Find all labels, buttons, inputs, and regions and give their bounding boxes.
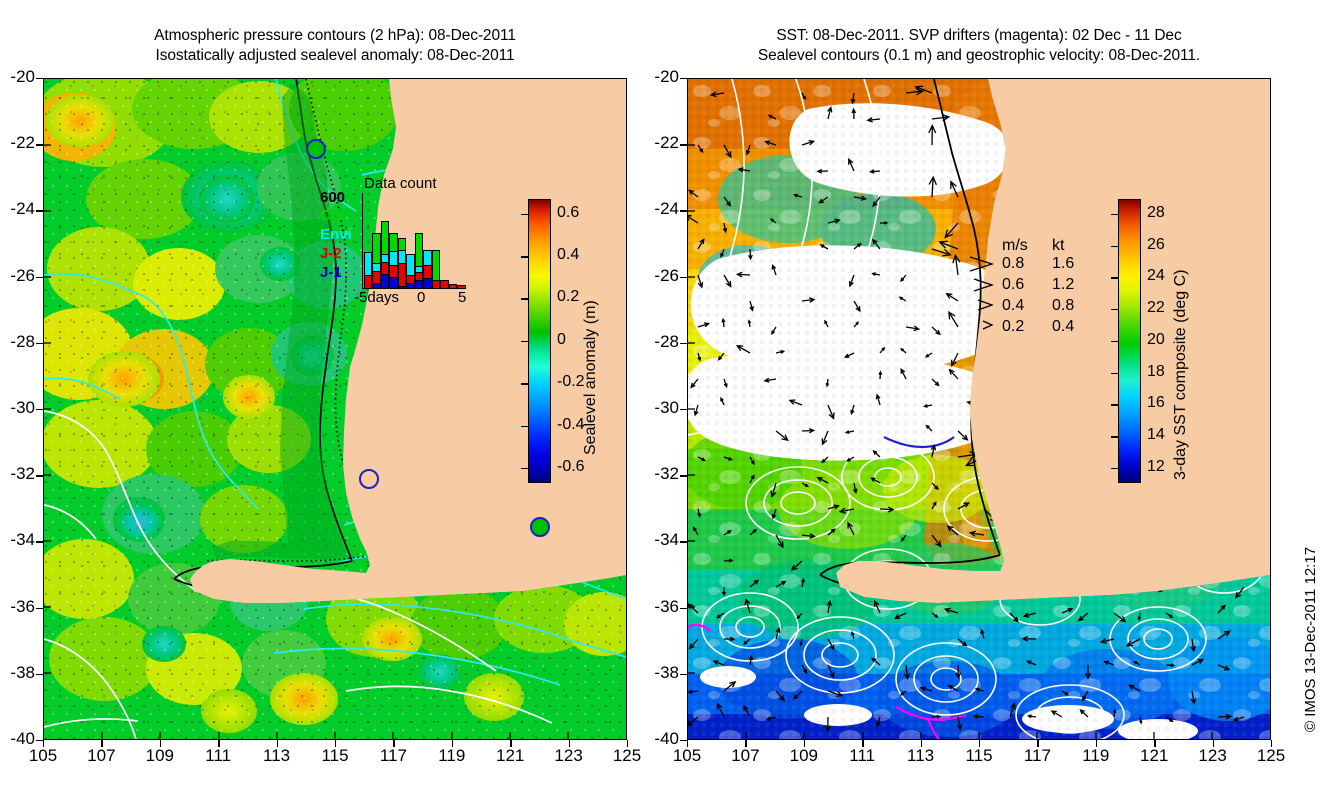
y-tick-mark (680, 740, 687, 741)
data-count-segment-cr2 (415, 233, 423, 266)
x-tick-label: 117 (1007, 746, 1067, 766)
mission-legend-cr2: Cr2 (320, 207, 345, 224)
data-count-segment-j-2 (381, 262, 389, 275)
data-count-xlabel-zero: 0 (417, 289, 425, 306)
x-tick-mark (1037, 740, 1038, 747)
colorbar-tick-label: 0 (557, 331, 566, 349)
colorbar-tick-label: -0.6 (557, 458, 585, 476)
data-count-segment-cr2 (389, 233, 397, 253)
colorbar-tick-mark (521, 256, 528, 257)
y-tick-label: -32 (0, 464, 35, 484)
data-count-segment-j-1 (415, 280, 423, 289)
left-panel-title: Atmospheric pressure contours (2 hPa): 0… (43, 26, 627, 66)
y-tick-mark (36, 144, 43, 145)
colorbar-tick-mark (1111, 404, 1118, 405)
y-tick-mark (680, 78, 687, 79)
x-tick-label: 119 (422, 746, 482, 766)
y-tick-mark (36, 78, 43, 79)
right-panel-title: SST: 08-Dec-2011. SVP drifters (magenta)… (687, 26, 1271, 66)
sealevel-colorbar-title: Sealevel anomaly (m) (582, 300, 600, 455)
y-tick-label: -30 (619, 398, 679, 418)
y-tick-mark (680, 475, 687, 476)
x-tick-mark (569, 740, 570, 747)
y-tick-mark (36, 210, 43, 211)
data-count-xlabel-end: 5 (458, 289, 466, 306)
data-count-segment-envi (406, 254, 414, 276)
x-tick-mark (452, 740, 453, 747)
x-tick-mark (1213, 740, 1214, 747)
data-count-segment-j-2 (440, 280, 448, 289)
y-tick-mark (680, 277, 687, 278)
x-tick-mark (804, 740, 805, 747)
data-count-segment-j-1 (398, 286, 406, 289)
x-tick-label: 107 (715, 746, 775, 766)
data-count-segment-j-2 (398, 263, 406, 287)
y-tick-mark (36, 740, 43, 741)
y-tick-mark (680, 608, 687, 609)
copyright-label: © IMOS 13-Dec-2011 12:17 (1302, 547, 1319, 732)
x-tick-mark (1154, 740, 1155, 747)
x-tick-mark (510, 740, 511, 747)
velocity-key-header-kt: kt (1052, 237, 1064, 255)
y-tick-label: -36 (619, 597, 679, 617)
data-count-inset: Data count 600 Cr2EnviJ-2J-1 -5days 0 5 (318, 175, 468, 300)
y-tick-mark (680, 674, 687, 675)
x-tick-mark (862, 740, 863, 747)
velocity-key-kt-value: 1.6 (1052, 255, 1074, 273)
colorbar-tick-label: 0.4 (557, 246, 579, 264)
colorbar-tick-mark (1111, 246, 1118, 247)
y-tick-label: -32 (619, 464, 679, 484)
x-tick-label: 117 (363, 746, 423, 766)
data-count-segment-envi (364, 252, 372, 276)
y-tick-label: -28 (619, 332, 679, 352)
x-tick-label: 109 (774, 746, 834, 766)
right-title-line-1: SST: 08-Dec-2011. SVP drifters (magenta)… (687, 26, 1271, 46)
x-tick-label: 125 (1241, 746, 1301, 766)
data-count-xlabel-start: -5days (354, 289, 399, 306)
y-tick-mark (36, 343, 43, 344)
data-count-ymax-label: 600 (320, 189, 345, 206)
colorbar-tick-label: 0.2 (557, 288, 579, 306)
x-tick-mark (101, 740, 102, 747)
y-tick-mark (36, 608, 43, 609)
y-tick-label: -22 (0, 133, 35, 153)
colorbar-tick-mark (521, 298, 528, 299)
x-tick-label: 123 (539, 746, 599, 766)
colorbar-tick-label: -0.4 (557, 416, 585, 434)
x-tick-label: 107 (71, 746, 131, 766)
velocity-scale-key: m/s kt 0.81.60.61.20.40.80.20.4 (968, 243, 1098, 343)
x-tick-mark (979, 740, 980, 747)
data-count-segment-envi (423, 250, 431, 266)
x-tick-mark (1271, 740, 1272, 747)
data-count-segment-j-2 (432, 280, 440, 290)
data-count-bar (364, 193, 372, 288)
y-tick-label: -34 (0, 530, 35, 550)
data-count-segment-j-2 (423, 265, 431, 279)
y-tick-label: -34 (619, 530, 679, 550)
x-tick-label: 115 (305, 746, 365, 766)
colorbar-tick-mark (1111, 309, 1118, 310)
colorbar-tick-label: 14 (1147, 426, 1165, 444)
y-tick-mark (36, 475, 43, 476)
velocity-key-ms-value: 0.6 (1002, 276, 1024, 294)
data-count-bar (440, 193, 448, 288)
data-count-segment-j-1 (381, 274, 389, 289)
x-tick-mark (218, 740, 219, 747)
left-title-line-2: Isostatically adjusted sealevel anomaly:… (43, 46, 627, 66)
x-tick-label: 125 (597, 746, 657, 766)
x-tick-label: 121 (1124, 746, 1184, 766)
data-count-segment-envi (398, 250, 406, 264)
data-count-segment-j-2 (449, 284, 457, 289)
data-count-segment-cr2 (432, 250, 440, 281)
colorbar-tick-mark (521, 383, 528, 384)
x-tick-label: 115 (949, 746, 1009, 766)
colorbar-tick-mark (521, 341, 528, 342)
y-tick-label: -40 (619, 729, 679, 749)
x-tick-mark (43, 740, 44, 747)
y-tick-mark (680, 409, 687, 410)
velocity-key-kt-value: 0.4 (1052, 318, 1074, 336)
colorbar-tick-mark (1111, 436, 1118, 437)
data-count-segment-cr2 (381, 221, 389, 255)
data-count-segment-j-1 (423, 278, 431, 289)
y-tick-label: -38 (0, 663, 35, 683)
data-count-bar (389, 193, 397, 288)
data-count-segment-j-1 (389, 277, 397, 289)
data-count-segment-j-2 (364, 275, 372, 289)
colorbar-tick-mark (521, 426, 528, 427)
sst-colorbar[interactable] (1118, 199, 1141, 483)
y-tick-mark (36, 541, 43, 542)
x-tick-label: 113 (891, 746, 951, 766)
velocity-key-kt-value: 1.2 (1052, 276, 1074, 294)
velocity-key-ms-value: 0.8 (1002, 255, 1024, 273)
data-count-segment-cr2 (372, 233, 380, 263)
colorbar-tick-label: 26 (1147, 236, 1165, 254)
x-tick-label: 105 (657, 746, 717, 766)
y-tick-label: -24 (619, 199, 679, 219)
x-tick-mark (335, 740, 336, 747)
y-tick-mark (36, 674, 43, 675)
colorbar-tick-mark (1111, 277, 1118, 278)
y-tick-label: -40 (0, 729, 35, 749)
x-tick-mark (160, 740, 161, 747)
data-count-bars (364, 193, 466, 288)
right-title-line-2: Sealevel contours (0.1 m) and geostrophi… (687, 46, 1271, 66)
y-tick-label: -28 (0, 332, 35, 352)
data-count-bar (406, 193, 414, 288)
y-tick-label: -30 (0, 398, 35, 418)
data-count-segment-j-1 (406, 283, 414, 289)
data-count-segment-envi (389, 251, 397, 266)
y-tick-mark (36, 277, 43, 278)
colorbar-tick-label: 12 (1147, 458, 1165, 476)
x-tick-mark (277, 740, 278, 747)
colorbar-tick-label: 24 (1147, 267, 1165, 285)
y-tick-mark (36, 409, 43, 410)
data-count-title: Data count (364, 175, 437, 192)
colorbar-tick-mark (1111, 373, 1118, 374)
x-tick-mark (687, 740, 688, 747)
x-tick-label: 113 (247, 746, 307, 766)
data-count-bar (398, 193, 406, 288)
x-tick-label: 105 (13, 746, 73, 766)
data-count-bar (432, 193, 440, 288)
sst-colorbar-title: 3-day SST composite (deg C) (1172, 270, 1190, 480)
x-tick-label: 111 (832, 746, 892, 766)
velocity-key-header-ms: m/s (1002, 237, 1028, 255)
colorbar-tick-mark (1111, 468, 1118, 469)
data-count-bar (372, 193, 380, 288)
velocity-key-ms-value: 0.2 (1002, 318, 1024, 336)
colorbar-tick-label: 0.6 (557, 204, 579, 222)
colorbar-tick-label: 28 (1147, 204, 1165, 222)
velocity-key-kt-value: 0.8 (1052, 297, 1074, 315)
x-tick-label: 123 (1183, 746, 1243, 766)
data-count-bar (415, 193, 423, 288)
colorbar-tick-mark (521, 468, 528, 469)
x-tick-label: 119 (1066, 746, 1126, 766)
left-title-line-1: Atmospheric pressure contours (2 hPa): 0… (43, 26, 627, 46)
y-tick-label: -22 (619, 133, 679, 153)
x-tick-mark (393, 740, 394, 747)
y-tick-label: -38 (619, 663, 679, 683)
data-count-bar (423, 193, 431, 288)
colorbar-tick-label: -0.2 (557, 373, 585, 391)
data-count-bar (449, 193, 457, 288)
y-tick-label: -20 (0, 67, 35, 87)
colorbar-tick-mark (521, 214, 528, 215)
data-count-bar (457, 193, 465, 288)
y-tick-mark (680, 541, 687, 542)
sealevel-anomaly-colorbar[interactable] (528, 199, 551, 483)
colorbar-tick-mark (1111, 214, 1118, 215)
colorbar-tick-label: 20 (1147, 331, 1165, 349)
mission-legend-j-1: J-1 (320, 264, 342, 281)
colorbar-tick-label: 22 (1147, 299, 1165, 317)
x-tick-label: 109 (130, 746, 190, 766)
mission-legend-envi: Envi (320, 226, 352, 243)
x-tick-label: 121 (480, 746, 540, 766)
mission-legend-j-2: J-2 (320, 245, 342, 262)
colorbar-tick-label: 16 (1147, 394, 1165, 412)
y-tick-label: -26 (619, 266, 679, 286)
x-tick-mark (1096, 740, 1097, 747)
x-tick-mark (745, 740, 746, 747)
y-tick-label: -36 (0, 597, 35, 617)
y-tick-mark (680, 343, 687, 344)
x-tick-label: 111 (188, 746, 248, 766)
colorbar-tick-mark (1111, 341, 1118, 342)
x-tick-mark (921, 740, 922, 747)
data-count-bar (381, 193, 389, 288)
y-tick-mark (680, 210, 687, 211)
y-tick-mark (680, 144, 687, 145)
colorbar-tick-label: 18 (1147, 363, 1165, 381)
y-tick-label: -24 (0, 199, 35, 219)
velocity-key-arrows (968, 243, 1098, 343)
y-tick-label: -26 (0, 266, 35, 286)
y-tick-label: -20 (619, 67, 679, 87)
velocity-key-ms-value: 0.4 (1002, 297, 1024, 315)
